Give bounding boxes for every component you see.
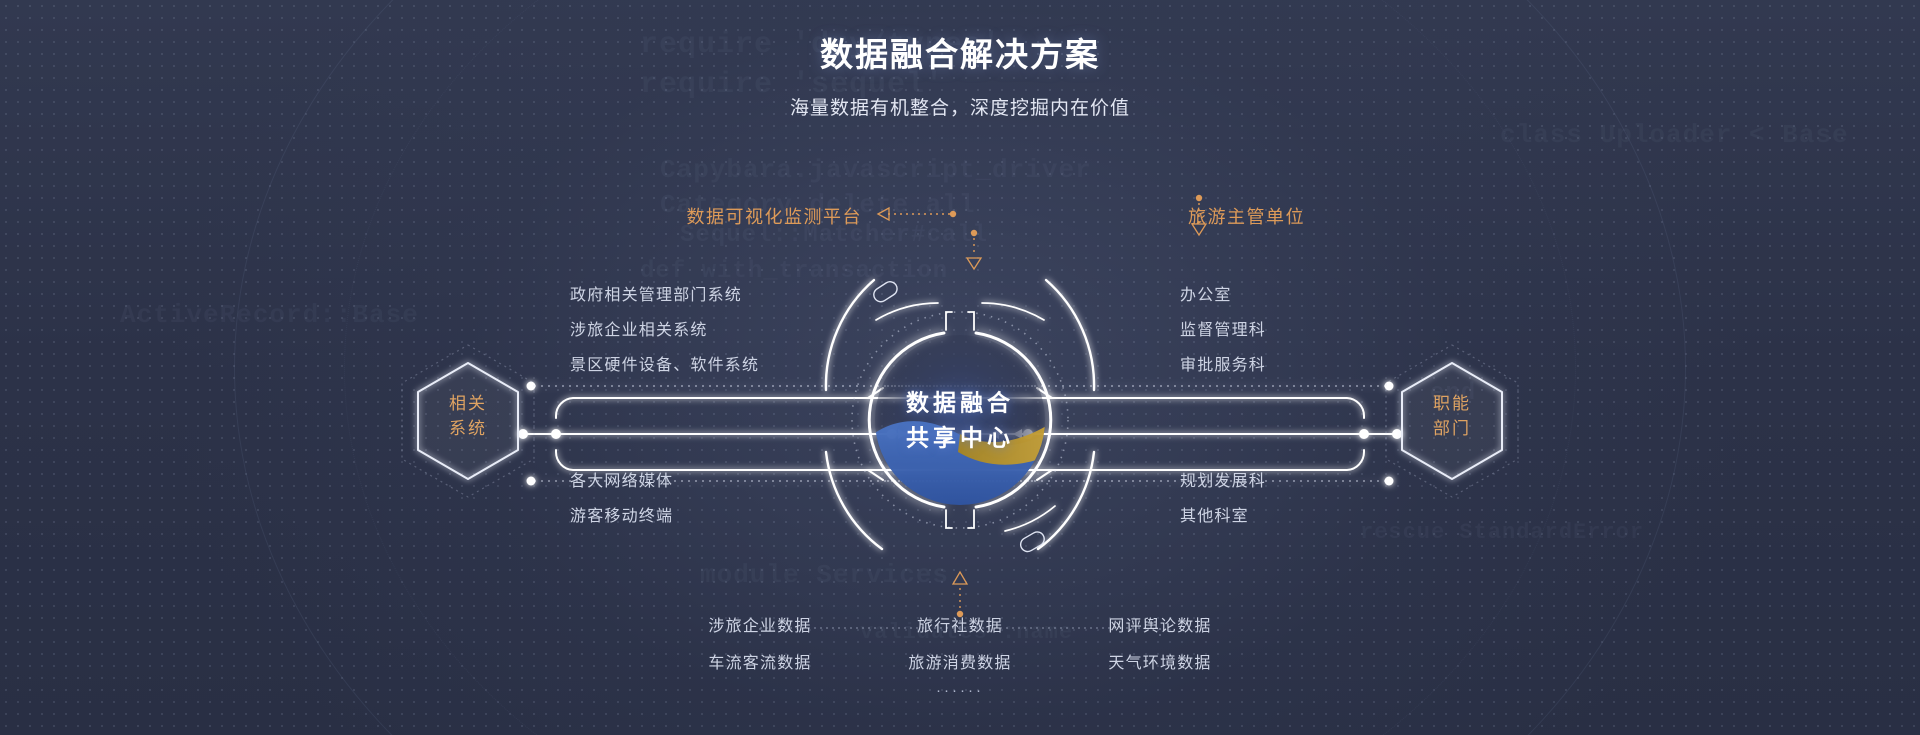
background-code-line: Capybara.javascript_driver <box>660 155 1092 185</box>
left-source-5[interactable]: 游客移动终端 <box>570 502 673 526</box>
right-department-4[interactable]: 规划发展科 <box>1180 467 1266 491</box>
left-source-4[interactable]: 各大网络媒体 <box>570 467 673 491</box>
center-hub-label: 数据融合 共享中心 <box>906 386 1014 455</box>
bottom-data-r2c1[interactable]: 车流客流数据 <box>708 649 811 673</box>
background-code-line: ActiveRecord::Base <box>120 300 419 330</box>
background-code-line: rescue StandardError <box>1360 520 1644 545</box>
right-department-3[interactable]: 审批服务科 <box>1180 351 1266 375</box>
right-department-1[interactable]: 办公室 <box>1180 281 1232 305</box>
ring-node-lower-right <box>1018 529 1047 554</box>
page-title: 数据融合解决方案 <box>0 34 1920 77</box>
right-department-2[interactable]: 监督管理科 <box>1180 316 1266 340</box>
bottom-data-ellipsis: ······ <box>936 682 984 699</box>
center-line-1: 数据融合 <box>906 386 1014 421</box>
ring-node-upper-left <box>871 279 900 304</box>
header: 数据融合解决方案 海量数据有机整合，深度挖掘内在价值 <box>0 34 1920 120</box>
top-node-connector <box>878 208 956 220</box>
bottom-data-r1c2[interactable]: 旅行社数据 <box>917 612 1003 636</box>
node-data-visualization-platform[interactable]: 数据可视化监测平台 <box>687 203 863 229</box>
hexagon-right-label: 职能 部门 <box>1433 392 1471 441</box>
center-line-2: 共享中心 <box>906 420 1014 455</box>
viz-platform-downlink <box>967 230 981 269</box>
right-department-5[interactable]: 其他科室 <box>1180 502 1249 526</box>
hexagon-left-label: 相关 系统 <box>449 392 487 441</box>
background-code-line: class Uploader < Base <box>1500 120 1849 150</box>
diagram-canvas: require 'dry/types'require 'sequel'Capyb… <box>0 0 1920 735</box>
background-code-line: module Services <box>700 560 949 590</box>
bottom-data-r2c3[interactable]: 天气环境数据 <box>1108 649 1211 673</box>
bottom-data-uplink <box>953 572 967 617</box>
page-subtitle: 海量数据有机整合，深度挖掘内在价值 <box>0 93 1920 120</box>
left-source-2[interactable]: 涉旅企业相关系统 <box>570 316 708 340</box>
node-tourism-authority[interactable]: 旅游主管单位 <box>1188 203 1305 229</box>
hexagon-left-line2: 系统 <box>449 417 487 442</box>
left-source-3[interactable]: 景区硬件设备、软件系统 <box>570 351 759 375</box>
hexagon-right-line1: 职能 <box>1433 392 1471 417</box>
hexagon-right-line2: 部门 <box>1433 417 1471 442</box>
left-source-1[interactable]: 政府相关管理部门系统 <box>570 281 742 305</box>
bottom-data-r2c2[interactable]: 旅游消费数据 <box>908 649 1011 673</box>
bottom-data-r1c3[interactable]: 网评舆论数据 <box>1108 612 1211 636</box>
hexagon-left-line1: 相关 <box>449 392 487 417</box>
bottom-data-r1c1[interactable]: 涉旅企业数据 <box>708 612 811 636</box>
